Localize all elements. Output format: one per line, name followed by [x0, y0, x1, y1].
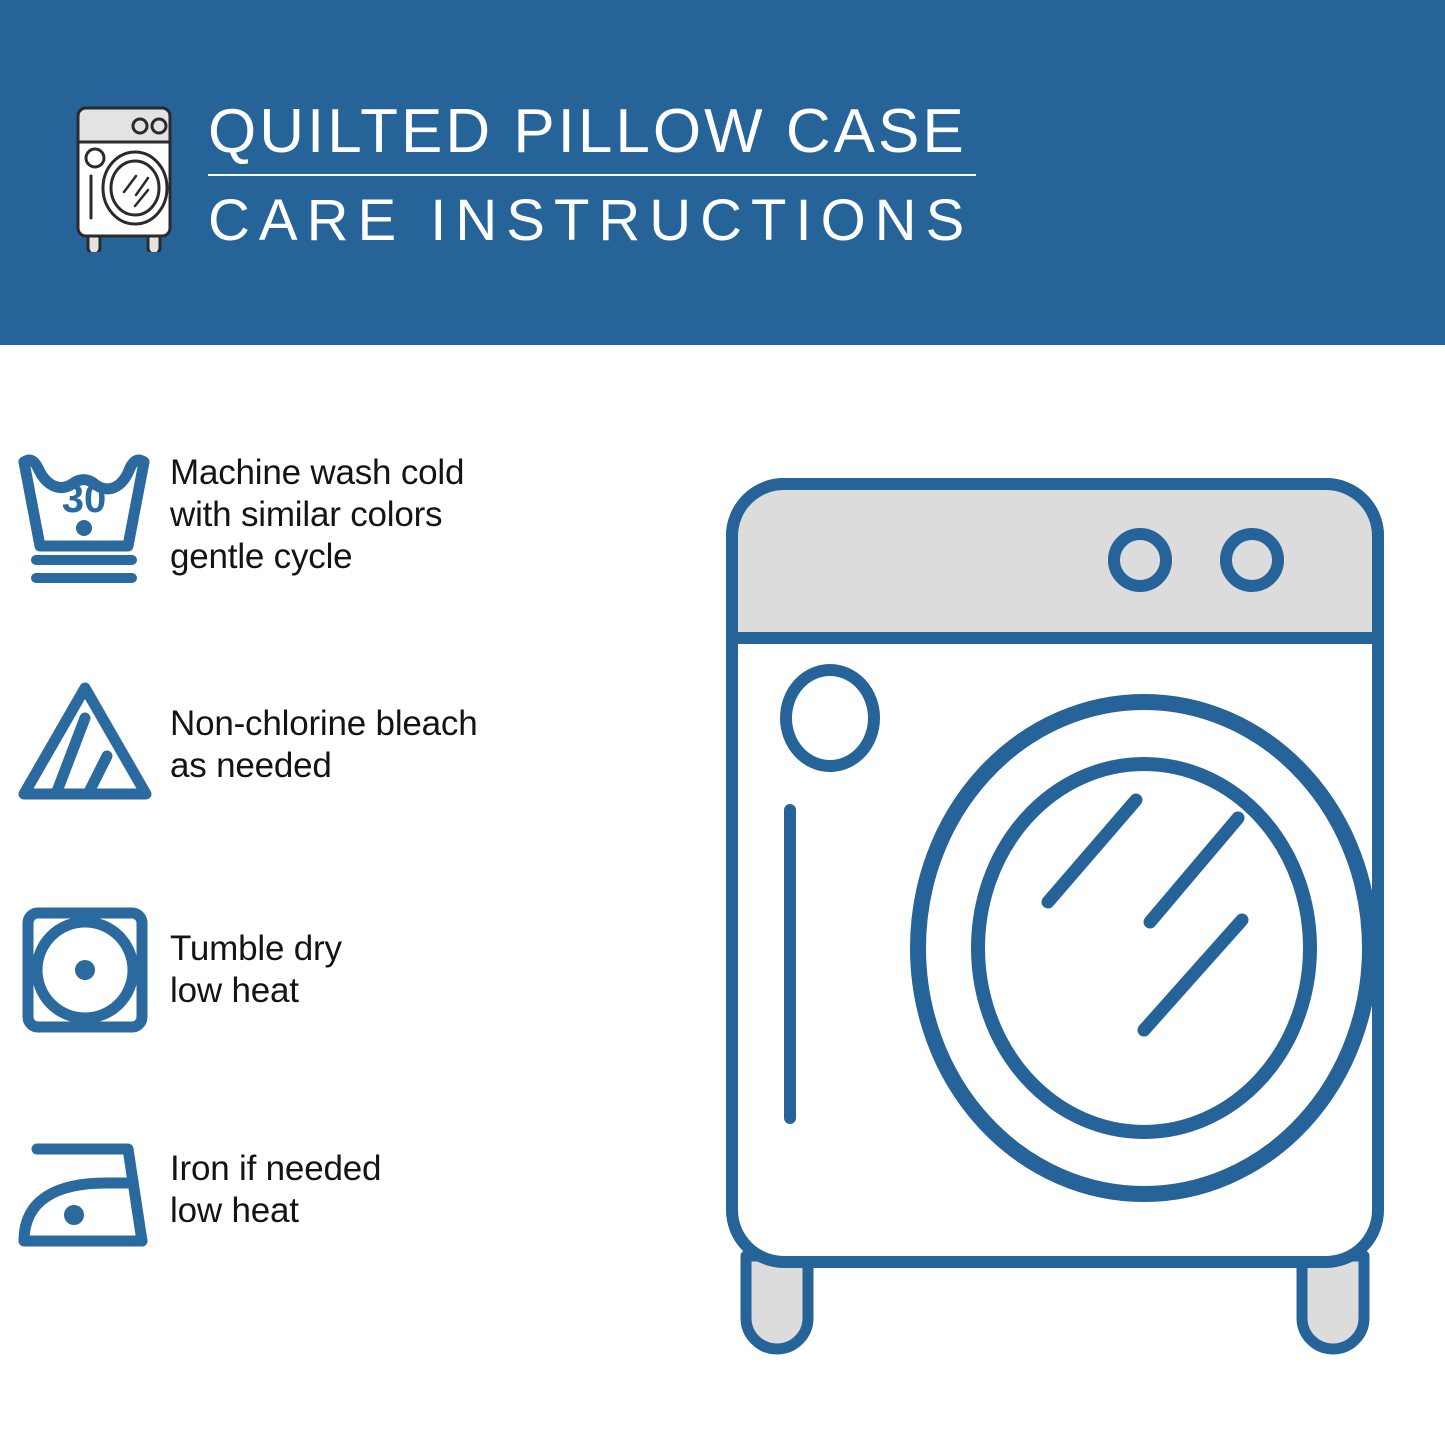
care-row-bleach: Non-chlorine bleach as needed [0, 665, 700, 825]
header-title-block: QUILTED PILLOW CASE CARE INSTRUCTIONS [208, 96, 1008, 254]
leg-right [1302, 1256, 1364, 1349]
page-title: QUILTED PILLOW CASE [208, 96, 1008, 168]
title-divider [208, 174, 976, 176]
care-instruction-list: 30 Machine wash cold with similar colors… [0, 345, 700, 1445]
leg-left [746, 1256, 808, 1349]
care-row-wash: 30 Machine wash cold with similar colors… [0, 435, 700, 595]
care-label-wash: Machine wash cold with similar colors ge… [170, 452, 464, 578]
care-label-iron: Iron if needed low heat [170, 1148, 381, 1232]
triangle-non-chlorine-bleach-icon [0, 665, 170, 825]
iron-low-heat-icon [0, 1110, 170, 1270]
care-label-tumble-dry: Tumble dry low heat [170, 928, 342, 1012]
header-banner: QUILTED PILLOW CASE CARE INSTRUCTIONS [0, 0, 1445, 345]
care-label-bleach: Non-chlorine bleach as needed [170, 703, 478, 787]
wash-tub-30-gentle-icon: 30 [0, 435, 170, 595]
svg-text:30: 30 [62, 477, 107, 521]
care-row-tumble-dry: Tumble dry low heat [0, 890, 700, 1050]
front-load-washing-machine-illustration [720, 470, 1420, 1370]
care-row-iron: Iron if needed low heat [0, 1110, 700, 1270]
washing-machine-icon [62, 100, 186, 252]
tumble-dry-low-heat-icon [0, 890, 170, 1050]
page-subtitle: CARE INSTRUCTIONS [208, 188, 1008, 254]
